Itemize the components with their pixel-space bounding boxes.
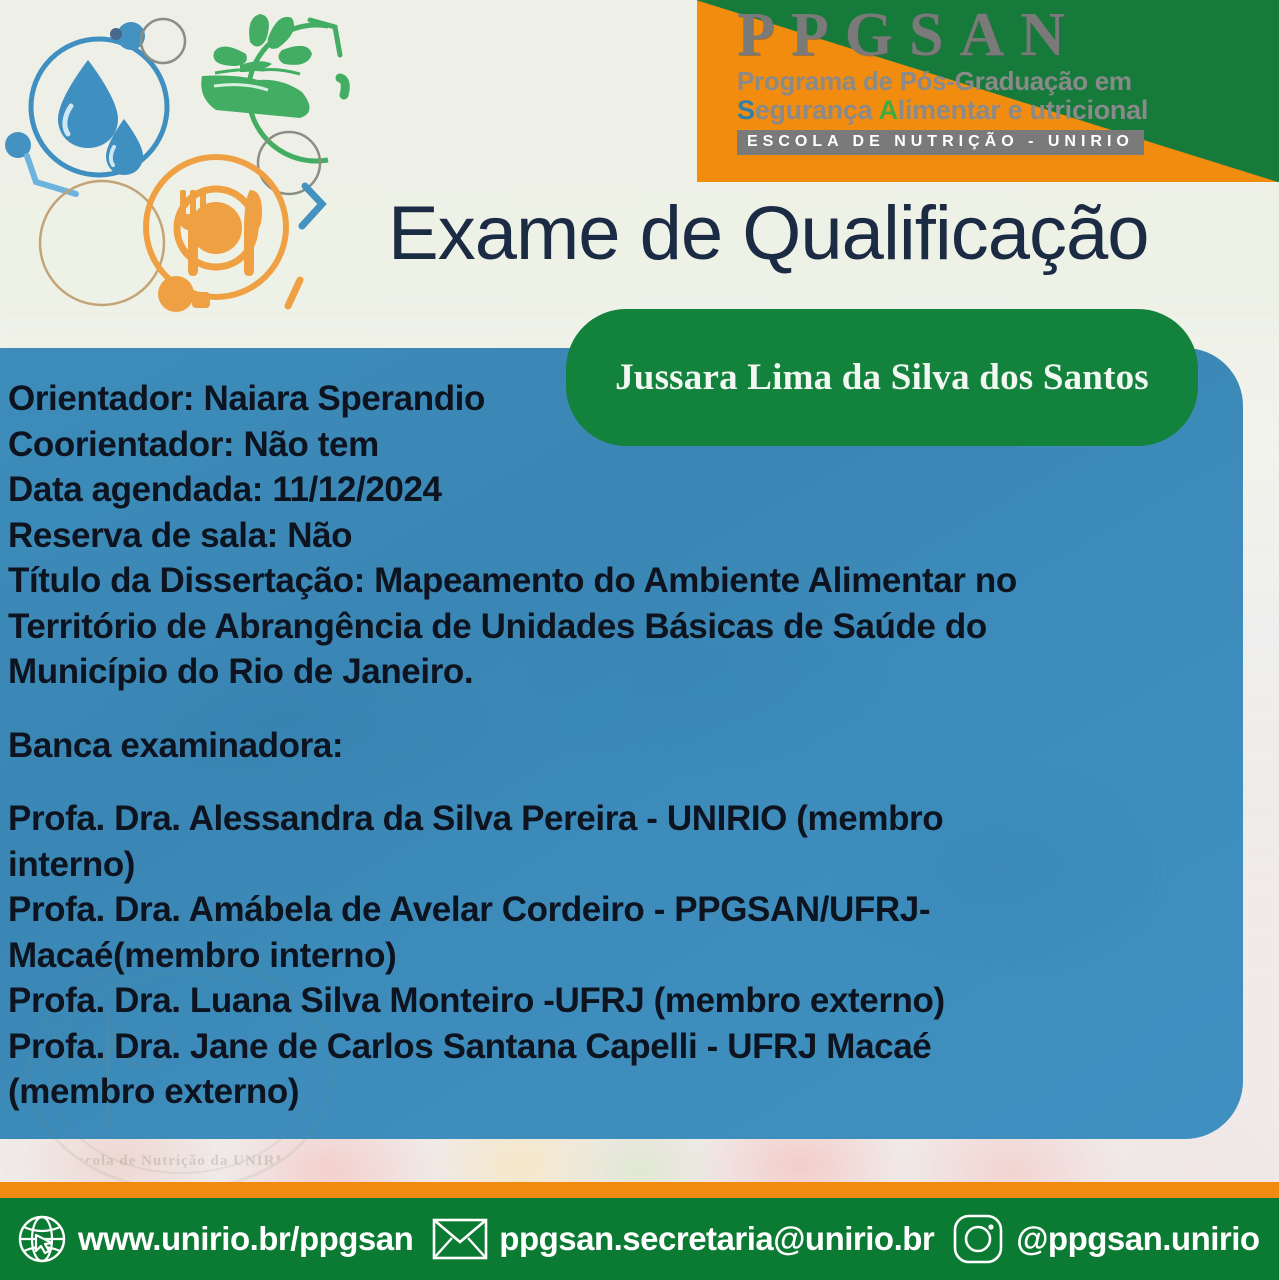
- page-title: Exame de Qualificação: [388, 196, 1258, 272]
- plant-leaves-icon: [213, 14, 312, 72]
- ppgsan-acronym: PPGSAN: [737, 4, 1167, 66]
- knife-icon: [244, 190, 262, 276]
- poster-canvas: PPGSAN Programa de Pós-Graduação em Segu…: [0, 0, 1279, 1280]
- ppgsan-s-letter: S: [737, 95, 755, 125]
- bubble-small-icon: [110, 28, 122, 40]
- banca-member: Profa. Dra. Amábela de Avelar Cordeiro -…: [8, 887, 1038, 978]
- footer-bar: www.unirio.br/ppgsan ppgsan.secretaria@u…: [0, 1198, 1279, 1280]
- ppgsan-a-letter: A: [879, 95, 898, 125]
- footer-email[interactable]: ppgsan.secretaria@unirio.br: [431, 1215, 934, 1263]
- instagram-label: @ppgsan.unirio: [1016, 1220, 1259, 1258]
- detail-coorientador: Coorientador: Não tem: [8, 422, 1038, 468]
- escola-nutricao-bar: ESCOLA DE NUTRIÇÃO - UNIRIO: [737, 130, 1144, 155]
- footer-website[interactable]: www.unirio.br/ppgsan: [14, 1211, 413, 1267]
- san-icon-cluster: [0, 0, 400, 330]
- detail-reserva-sala: Reserva de sala: Não: [8, 513, 1038, 559]
- ppgsan-subtitle-line1: Programa de Pós-Graduação em: [737, 68, 1167, 95]
- seal-label: Escola de Nutrição da UNIRIO: [31, 1153, 331, 1170]
- detail-orientador: Orientador: Naiara Sperandio: [8, 376, 1038, 422]
- globe-icon: [14, 1211, 70, 1267]
- ppgsan-subtitle-line2: Segurança Alimentar e utricional: [737, 96, 1167, 124]
- envelope-icon: [431, 1215, 489, 1263]
- ppgsan-limentar: limentar e utricional: [898, 95, 1148, 125]
- ppgsan-egurranca: egurança: [755, 95, 879, 125]
- banca-member: Profa. Dra. Luana Silva Monteiro -UFRJ (…: [8, 978, 1038, 1024]
- footer-instagram[interactable]: @ppgsan.unirio: [950, 1211, 1259, 1267]
- exam-details: Orientador: Naiara Sperandio Coorientado…: [8, 376, 1038, 1115]
- outline-circle-icon: [141, 19, 185, 63]
- hand-icon: [201, 76, 309, 119]
- ppgsan-logo-block: PPGSAN Programa de Pós-Graduação em Segu…: [697, 0, 1279, 182]
- san-icons-svg: [0, 0, 400, 330]
- detail-data-agendada: Data agendada: 11/12/2024: [8, 467, 1038, 513]
- fruit-icon: [158, 276, 194, 312]
- footer-orange-stripe: [0, 1182, 1279, 1198]
- banca-header: Banca examinadora:: [8, 723, 1038, 769]
- banca-member: Profa. Dra. Jane de Carlos Santana Capel…: [8, 1024, 1038, 1115]
- detail-titulo-dissertacao: Título da Dissertação: Mapeamento do Amb…: [8, 558, 1038, 695]
- instagram-icon: [950, 1211, 1006, 1267]
- banca-member: Profa. Dra. Alessandra da Silva Pereira …: [8, 796, 1038, 887]
- website-label: www.unirio.br/ppgsan: [78, 1220, 413, 1258]
- email-label: ppgsan.secretaria@unirio.br: [499, 1220, 934, 1258]
